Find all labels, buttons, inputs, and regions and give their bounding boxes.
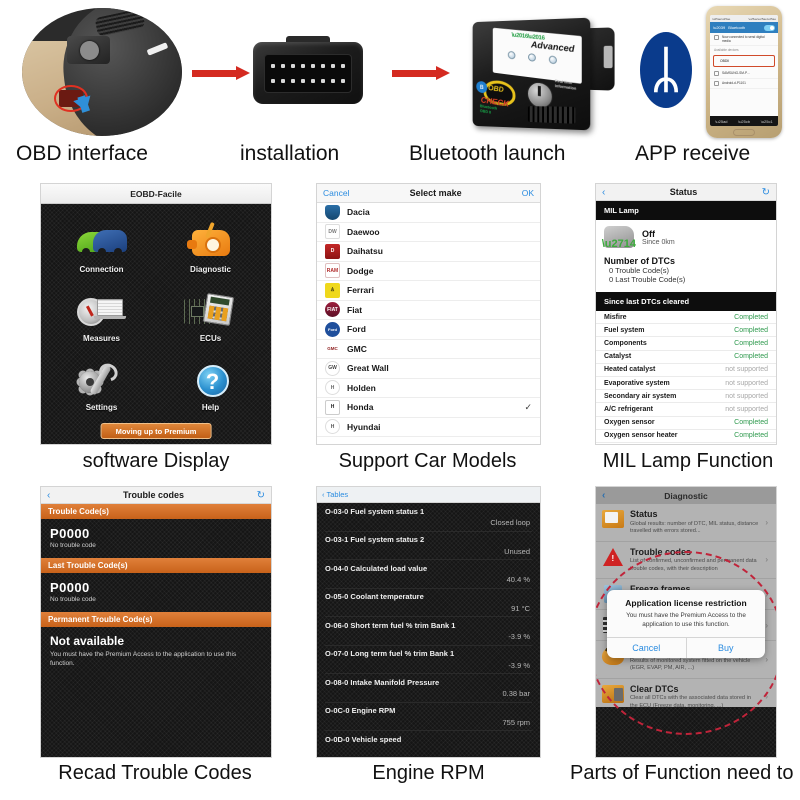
make-list-item[interactable]: FordFord <box>317 320 540 340</box>
checkmark-icon: \u2714 <box>602 238 636 250</box>
pid-row[interactable]: O-07-0 Long term fuel % trim Bank 1-3.9 … <box>317 646 540 675</box>
not-available-title: Not available <box>50 634 262 648</box>
monitor-row: Oxygen sensor heaterCompleted <box>596 430 776 443</box>
calculator-shape <box>202 293 233 326</box>
help-circle: ? <box>197 365 229 397</box>
permanent-codes-entry: Not available You must have the Premium … <box>41 627 271 677</box>
diagnostic-item-text: StatusGlobal results: number of DTC, MIL… <box>630 509 759 536</box>
monitor-name: Evaporative system <box>604 380 670 387</box>
monitor-status-badge: not supported <box>725 366 768 373</box>
circuit-board-icon <box>184 293 238 331</box>
status-title: Status <box>670 187 698 197</box>
adapter-led-row <box>508 51 557 65</box>
monitor-name: Misfire <box>604 314 627 321</box>
diagnostic-item[interactable]: StatusGlobal results: number of DTC, MIL… <box>596 504 776 542</box>
nav-home-icon[interactable]: \u25cb <box>738 119 750 124</box>
make-name: Daihatsu <box>347 246 383 256</box>
mil-state-text-group: Off Since 0km <box>642 229 675 246</box>
tile-ecus[interactable]: ECUs <box>156 283 265 352</box>
refresh-icon[interactable]: ↻ <box>762 187 770 198</box>
laptop-shape <box>97 299 127 321</box>
panel-status: ‹ Status ↻ MIL Lamp \u2714 Off Since 0km… <box>595 183 777 445</box>
caption-recad-trouble-codes: Recad Trouble Codes <box>30 762 280 785</box>
pid-row[interactable]: O-0C-0 Engine RPM755 rpm <box>317 703 540 732</box>
obd-connector-photo <box>253 42 363 104</box>
diagnostic-navbar: ‹ Diagnostic <box>596 487 776 504</box>
pid-row[interactable]: O-03-1 Fuel system status 2Unused <box>317 532 540 561</box>
phone-available-device-obdii[interactable]: OBDII <box>713 55 775 67</box>
smartphone-photo: \u25ae\u25ae \u25ae\u25ae\u25ae \u2039 B… <box>706 6 782 138</box>
make-list-item[interactable]: ♙Ferrari <box>317 281 540 301</box>
make-list-item[interactable]: GMCGMC <box>317 340 540 360</box>
make-list-item[interactable]: GWGreat Wall <box>317 359 540 379</box>
nav-back-icon[interactable]: \u25c1 <box>761 119 773 124</box>
infographic-page: \u2016\u2016 Advanced OBD CHECK ʙ Blueto… <box>0 0 800 800</box>
bluetooth-toggle[interactable] <box>764 25 775 31</box>
obd-check-logo: OBD CHECK ʙ Bluetooth OBD II <box>476 77 525 123</box>
back-icon[interactable]: ‹ <box>602 187 605 198</box>
gauge-laptop-icon <box>75 293 129 331</box>
pid-row[interactable]: O-06-0 Short term fuel % trim Bank 1-3.9… <box>317 617 540 646</box>
cancel-button[interactable]: Cancel <box>323 188 349 198</box>
monitor-row: MisfireCompleted <box>596 311 776 324</box>
pid-row[interactable]: O-03-0 Fuel system status 1Closed loop <box>317 503 540 532</box>
tile-label: Settings <box>86 403 118 412</box>
pid-value: -3.9 % <box>325 658 532 674</box>
bluetooth-rune: ᛦ <box>651 45 681 95</box>
panel-diagnostic: ‹ Diagnostic StatusGlobal results: numbe… <box>595 486 777 758</box>
pid-value <box>325 744 532 747</box>
make-name: Fiat <box>347 305 362 315</box>
adapter-side-text: Real time information <box>555 79 577 92</box>
tile-label: Help <box>202 403 219 412</box>
led-power-icon <box>508 51 516 60</box>
monitor-row: Heated catalystnot supported <box>596 364 776 377</box>
pid-value: Closed loop <box>325 516 532 532</box>
pid-label: O-08-0 Intake Manifold Pressure <box>325 678 532 687</box>
make-logo-icon: H <box>325 419 340 434</box>
premium-upgrade-button[interactable]: Moving up to Premium <box>101 423 212 439</box>
monitor-name: Fuel system <box>604 327 644 334</box>
diagnostic-item-title: Clear DTCs <box>630 684 759 694</box>
pid-label: O-0C-0 Engine RPM <box>325 706 532 715</box>
chevron-right-icon: › <box>765 518 768 527</box>
adapter-body: \u2016\u2016 Advanced OBD CHECK ʙ Blueto… <box>473 18 591 131</box>
arrow-shaft <box>192 70 236 77</box>
adapter-brand-text: Advanced <box>531 39 574 54</box>
make-name: Dacia <box>347 207 370 217</box>
back-icon[interactable]: ‹ <box>322 490 325 499</box>
pid-label: O-06-0 Short term fuel % trim Bank 1 <box>325 621 532 630</box>
pid-label: O-03-0 Fuel system status 1 <box>325 507 532 516</box>
connector-pin-row-bottom <box>271 79 345 83</box>
phone-statusbar: \u25ae\u25ae \u25ae\u25ae\u25ae <box>710 15 778 22</box>
panel-tables: ‹ Tables O-03-0 Fuel system status 1Clos… <box>316 486 541 758</box>
pid-label: O-04-0 Calculated load value <box>325 564 532 573</box>
select-make-navbar: Cancel Select make OK <box>317 184 540 203</box>
trouble-code-entry-1: P0000 No trouble code <box>41 519 271 558</box>
trouble-codes-navbar: ‹ Trouble codes ↻ <box>41 487 271 504</box>
trouble-code-entry-2: P0000 No trouble code <box>41 573 271 612</box>
mil-lamp-body: \u2714 Off Since 0km Number of DTCs 0 Tr… <box>596 220 776 292</box>
pid-row[interactable]: O-04-0 Calculated load value40.4 % <box>317 560 540 589</box>
folder-doc-icon-shape <box>602 510 624 528</box>
led-data-icon <box>528 53 536 62</box>
monitor-status-badge: Completed <box>734 353 768 360</box>
caption-mil-lamp-function: MIL Lamp Function <box>582 450 794 473</box>
diagnostic-title: Diagnostic <box>664 491 707 501</box>
car-dashboard-photo <box>22 8 182 136</box>
flow-caption-bluetooth-launch: Bluetooth launch <box>409 142 565 166</box>
pid-value: 40.4 % <box>325 573 532 589</box>
mil-state: Off <box>642 229 675 239</box>
section-permanent-trouble-codes: Permanent Trouble Code(s) <box>41 612 271 627</box>
make-name: Daewoo <box>347 227 380 237</box>
monitor-name: Components <box>604 340 647 347</box>
monitor-name: A/C refrigerant <box>604 406 653 413</box>
dashboard-inner <box>22 8 182 136</box>
pid-label: O-07-0 Long term fuel % trim Bank 1 <box>325 649 532 658</box>
connector-face <box>264 54 352 92</box>
dtc-trouble-count: 0 Trouble Code(s) <box>609 266 768 275</box>
pid-label: O-03-1 Fuel system status 2 <box>325 535 532 544</box>
adapter-plug-tip <box>604 46 613 68</box>
elm327-adapter-photo: \u2016\u2016 Advanced OBD CHECK ʙ Blueto… <box>465 6 620 138</box>
blue-car-shape <box>93 230 127 252</box>
flow-caption-installation: installation <box>240 142 339 166</box>
screenshot-grid: EOBD-Facile Connection Diagnostic <box>0 178 800 798</box>
phone-section-available: Available devices <box>710 46 778 53</box>
status-navbar: ‹ Status ↻ <box>596 184 776 201</box>
monitor-name: Secondary air system <box>604 393 676 400</box>
status-right: \u25ae\u25ae\u25ae <box>748 17 776 21</box>
chevron-right-icon: › <box>765 555 768 564</box>
make-logo-icon: GW <box>325 361 340 376</box>
device-2-label: SAMSUNG-SM-P… <box>722 71 750 75</box>
tile-measures[interactable]: Measures <box>47 283 156 352</box>
monitor-status-badge: not supported <box>725 380 768 387</box>
make-logo-icon: ♙ <box>325 283 340 298</box>
pid-value: 91 °C <box>325 601 532 617</box>
monitor-row: Evaporative systemnot supported <box>596 377 776 390</box>
make-logo-icon: GMC <box>325 341 340 356</box>
app-title: EOBD-Facile <box>130 189 182 199</box>
dialog-buy-button[interactable]: Buy <box>686 638 766 658</box>
make-list-item[interactable]: DWDaewoo <box>317 223 540 243</box>
make-list-item[interactable]: FIATFiat <box>317 301 540 321</box>
nav-recents-icon[interactable]: \u25ad <box>715 119 727 124</box>
led-bluetooth-icon <box>549 55 557 64</box>
phone-bluetooth-appbar: \u2039 Bluetooth <box>710 22 778 33</box>
back-icon[interactable]: ‹ <box>602 490 605 501</box>
tables-title: Tables <box>327 490 349 499</box>
make-logo-icon: Ford <box>325 322 340 337</box>
device-3-label: Android-d-P1101 <box>722 81 746 85</box>
device-icon <box>714 71 719 76</box>
folder-doc-icon <box>602 509 624 529</box>
make-logo-icon: D <box>325 244 340 259</box>
monitor-name: Oxygen sensor heater <box>604 432 678 439</box>
logo-bluetooth-icon: ʙ <box>476 81 487 94</box>
chevron-right-icon: › <box>765 590 768 599</box>
phone-available-device-3[interactable]: Android-d-P1101 <box>710 79 778 89</box>
adapter-label: \u2016\u2016 Advanced <box>493 28 582 84</box>
section-trouble-codes: Trouble Code(s) <box>41 504 271 519</box>
make-logo-icon <box>325 205 340 220</box>
make-logo-icon: FIAT <box>325 302 340 317</box>
dialog-button-row: Cancel Buy <box>607 637 765 658</box>
arrow-shaft <box>392 70 436 77</box>
monitor-status-badge: Completed <box>734 314 768 321</box>
phone-home-button[interactable] <box>733 129 755 136</box>
dialog-title: Application license restriction <box>607 590 765 611</box>
paired-device-sub: Now connected to send digital media <box>722 35 774 43</box>
monitor-row: Oxygen sensorCompleted <box>596 417 776 430</box>
pid-value: -3.9 % <box>325 630 532 646</box>
flow-caption-app-receive: APP receive <box>635 142 750 166</box>
mil-lamp-header: MIL Lamp <box>596 201 776 220</box>
make-list-item[interactable]: HHyundai <box>317 418 540 438</box>
trouble-code-value: P0000 <box>50 526 262 541</box>
device-icon <box>714 35 719 40</box>
make-name: Hyundai <box>347 422 381 432</box>
logo-sub-2: OBD II <box>480 108 491 115</box>
car-make-list[interactable]: DaciaDWDaewooDDaihatsuRAMDodge♙FerrariFI… <box>317 203 540 444</box>
tile-help[interactable]: ? Help <box>156 353 265 422</box>
warning-triangle-icon-shape <box>603 548 623 566</box>
pid-label: O-0D-0 Vehicle speed <box>325 735 532 744</box>
make-list-item[interactable]: DDaihatsu <box>317 242 540 262</box>
make-list-item[interactable]: RAMDodge <box>317 262 540 282</box>
bluetooth-logo-icon: ᛦ <box>640 32 692 108</box>
flow-arrow-1-icon <box>192 66 250 80</box>
arrow-head <box>436 66 450 80</box>
pid-table-list[interactable]: O-03-0 Fuel system status 1Closed loopO-… <box>317 503 540 757</box>
monitor-status-badge: not supported <box>725 406 768 413</box>
obdii-label: OBDII <box>720 59 729 63</box>
back-icon[interactable]: ‹ <box>47 490 50 501</box>
make-logo-icon: RAM <box>325 263 340 278</box>
mil-since: Since 0km <box>642 239 675 246</box>
tile-label: ECUs <box>200 334 221 343</box>
gear-wrench-icon <box>75 362 129 400</box>
tile-label: Measures <box>83 334 120 343</box>
diagnostic-item-desc: Global results: number of DTC, MIL statu… <box>630 521 759 536</box>
pid-row[interactable]: O-08-0 Intake Manifold Pressure0.38 bar <box>317 674 540 703</box>
warning-triangle-icon <box>602 547 624 567</box>
make-name: Holden <box>347 383 376 393</box>
flow-caption-obd-interface: OBD interface <box>16 142 148 166</box>
make-name: Ford <box>347 324 366 334</box>
ok-button[interactable]: OK <box>522 188 534 198</box>
diagnostic-item-title: Trouble codes <box>630 547 759 557</box>
tile-diagnostic[interactable]: Diagnostic <box>156 214 265 283</box>
arrow-head <box>236 66 250 80</box>
diagnostic-item-title: Status <box>630 509 759 519</box>
clear-dtc-icon-shape <box>602 685 624 703</box>
panel-select-make: Cancel Select make OK DaciaDWDaewooDDaih… <box>316 183 541 445</box>
clear-dtc-icon <box>602 684 624 704</box>
monitor-status-list: MisfireCompletedFuel systemCompletedComp… <box>596 311 776 443</box>
refresh-icon[interactable]: ↻ <box>257 490 265 501</box>
pid-label: O-05-0 Coolant temperature <box>325 592 532 601</box>
chevron-right-icon: › <box>765 692 768 701</box>
appbar-back-icon: \u2039 <box>713 25 725 30</box>
panel-software-display: EOBD-Facile Connection Diagnostic <box>40 183 272 445</box>
caption-parts-need-to-pay: Parts of Function need to Pay <box>570 762 800 785</box>
make-name: Dodge <box>347 266 373 276</box>
diagnostic-item-desc: List of confirmed, unconfirmed and perma… <box>630 558 759 573</box>
app-tile-grid: Connection Diagnostic <box>41 204 271 444</box>
license-restriction-dialog: Application license restriction You must… <box>607 590 765 658</box>
appbar-title: Bluetooth <box>728 25 745 30</box>
monitor-status-badge: Completed <box>734 432 768 439</box>
monitor-name: Catalyst <box>604 353 631 360</box>
phone-navbar: \u25ad \u25cb \u25c1 <box>710 116 778 126</box>
make-name: Great Wall <box>347 363 389 373</box>
tile-label: Connection <box>80 265 124 274</box>
diagnostic-item-desc: Results of monitored system fitted on th… <box>630 658 759 673</box>
make-list-item[interactable]: Dacia <box>317 203 540 223</box>
trouble-code-desc: No trouble code <box>50 542 262 549</box>
device-icon <box>714 81 719 86</box>
diagnostic-function-list[interactable]: StatusGlobal results: number of DTC, MIL… <box>596 504 776 757</box>
app-titlebar: EOBD-Facile <box>41 184 271 204</box>
selected-checkmark-icon: ✓ <box>524 402 532 413</box>
make-list-item[interactable]: HHonda✓ <box>317 398 540 418</box>
trouble-code-value: P0000 <box>50 580 262 595</box>
monitor-status-badge: Completed <box>734 327 768 334</box>
installation-flow-row: \u2016\u2016 Advanced OBD CHECK ʙ Blueto… <box>0 0 800 145</box>
make-logo-icon: H <box>325 400 340 415</box>
phone-paired-device-row[interactable]: Now connected to send digital media <box>710 33 778 46</box>
monitor-name: Oxygen sensor <box>604 419 655 426</box>
two-cars-icon <box>75 224 129 262</box>
diagnostic-carbon-footer <box>596 707 776 757</box>
monitor-name: Heated catalyst <box>604 366 655 373</box>
question-mark-icon: ? <box>184 362 238 400</box>
chevron-right-icon: › <box>765 655 768 664</box>
trouble-codes-title: Trouble codes <box>123 490 184 500</box>
phone-screen: \u25ae\u25ae \u25ae\u25ae\u25ae \u2039 B… <box>710 15 778 126</box>
flow-arrow-2-icon <box>392 66 450 80</box>
monitor-row: Secondary air systemnot supported <box>596 390 776 403</box>
caption-engine-rpm: Engine RPM <box>316 762 541 785</box>
mil-lamp-state-row: \u2714 Off Since 0km <box>604 226 768 248</box>
monitor-row: ComponentsCompleted <box>596 337 776 350</box>
monitor-status-badge: Completed <box>734 340 768 347</box>
caption-software-display: software Display <box>40 450 272 473</box>
dtc-last-trouble-count: 0 Last Trouble Code(s) <box>609 275 768 284</box>
tables-navbar: ‹ Tables <box>317 487 540 503</box>
caption-support-car-models: Support Car Models <box>300 450 555 473</box>
make-logo-icon: H <box>325 380 340 395</box>
chevron-right-icon: › <box>765 621 768 630</box>
status-left: \u25ae\u25ae <box>712 17 730 21</box>
section-last-trouble-codes: Last Trouble Code(s) <box>41 558 271 573</box>
since-cleared-header: Since last DTCs cleared <box>596 292 776 311</box>
panel-trouble-codes: ‹ Trouble codes ↻ Trouble Code(s) P0000 … <box>40 486 272 758</box>
monitor-row: A/C refrigerantnot supported <box>596 403 776 416</box>
monitor-status-badge: not supported <box>725 393 768 400</box>
tile-label: Diagnostic <box>190 265 231 274</box>
make-name: Ferrari <box>347 285 374 295</box>
monitor-row: CatalystCompleted <box>596 351 776 364</box>
make-name: GMC <box>347 344 367 354</box>
adapter-vents <box>528 106 575 124</box>
monitor-row: Fuel systemCompleted <box>596 324 776 337</box>
phone-available-device-2[interactable]: SAMSUNG-SM-P… <box>710 69 778 79</box>
pid-row[interactable]: O-0D-0 Vehicle speed <box>317 731 540 746</box>
not-available-desc: You must have the Premium Access to the … <box>50 650 262 668</box>
pid-value: 755 rpm <box>325 715 532 731</box>
dialog-cancel-button[interactable]: Cancel <box>607 638 686 658</box>
diagnostic-item-text: Trouble codesList of confirmed, unconfir… <box>630 547 759 574</box>
select-make-title: Select make <box>410 188 462 198</box>
make-list-item[interactable]: HHolden <box>317 379 540 399</box>
pid-value: Unused <box>325 544 532 560</box>
tile-connection[interactable]: Connection <box>47 214 156 283</box>
make-logo-icon: DW <box>325 224 340 239</box>
pid-row[interactable]: O-05-0 Coolant temperature91 °C <box>317 589 540 618</box>
make-name: Honda <box>347 402 373 412</box>
engine-icon <box>184 224 238 262</box>
dtc-count-title: Number of DTCs <box>604 256 768 266</box>
trouble-code-desc: No trouble code <box>50 596 262 603</box>
engine-lamp-icon: \u2714 <box>604 226 634 248</box>
dialog-message: You must have the Premium Access to the … <box>607 611 765 637</box>
pid-value: 0.38 bar <box>325 687 532 703</box>
connector-pin-row-top <box>271 64 345 68</box>
tile-settings[interactable]: Settings <box>47 353 156 422</box>
diagnostic-item[interactable]: Trouble codesList of confirmed, unconfir… <box>596 542 776 580</box>
monitor-status-badge: Completed <box>734 419 768 426</box>
